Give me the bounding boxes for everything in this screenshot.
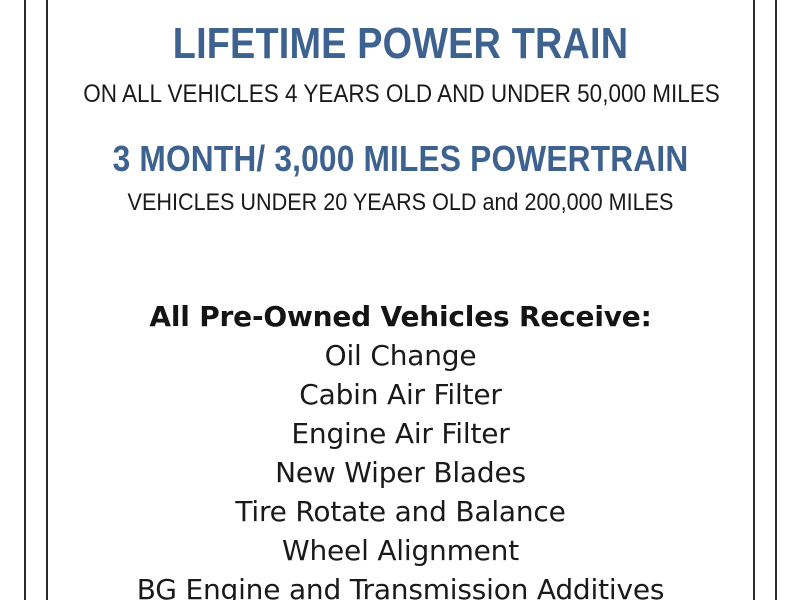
service-list-item: Tire Rotate and Balance (48, 492, 753, 531)
warranty-sign-page: LIFETIME POWER TRAIN ON ALL VEHICLES 4 Y… (0, 0, 800, 600)
offer-headline-lifetime-powertrain: LIFETIME POWER TRAIN (97, 22, 703, 66)
service-list-item: Oil Change (48, 336, 753, 375)
service-list-item: Cabin Air Filter (48, 375, 753, 414)
sign-content-column: LIFETIME POWER TRAIN ON ALL VEHICLES 4 Y… (48, 0, 753, 600)
service-list-item: Engine Air Filter (48, 414, 753, 453)
offer-subline-3month-powertrain: VEHICLES UNDER 20 YEARS OLD and 200,000 … (83, 191, 718, 215)
page-edge-line-right-outer (775, 0, 777, 600)
page-edge-line-left-outer (24, 0, 26, 600)
service-list-item: New Wiper Blades (48, 453, 753, 492)
offer-headline-3month-powertrain: 3 MONTH/ 3,000 MILES POWERTRAIN (90, 141, 710, 177)
service-list-item: BG Engine and Transmission Additives (48, 570, 753, 600)
preowned-services-title: All Pre-Owned Vehicles Receive: (48, 298, 753, 336)
preowned-services-block: All Pre-Owned Vehicles Receive: Oil Chan… (48, 298, 753, 600)
offer-subline-lifetime-powertrain: ON ALL VEHICLES 4 YEARS OLD AND UNDER 50… (83, 82, 718, 107)
page-edge-line-right-inner (753, 0, 755, 600)
service-list-item: Wheel Alignment (48, 531, 753, 570)
